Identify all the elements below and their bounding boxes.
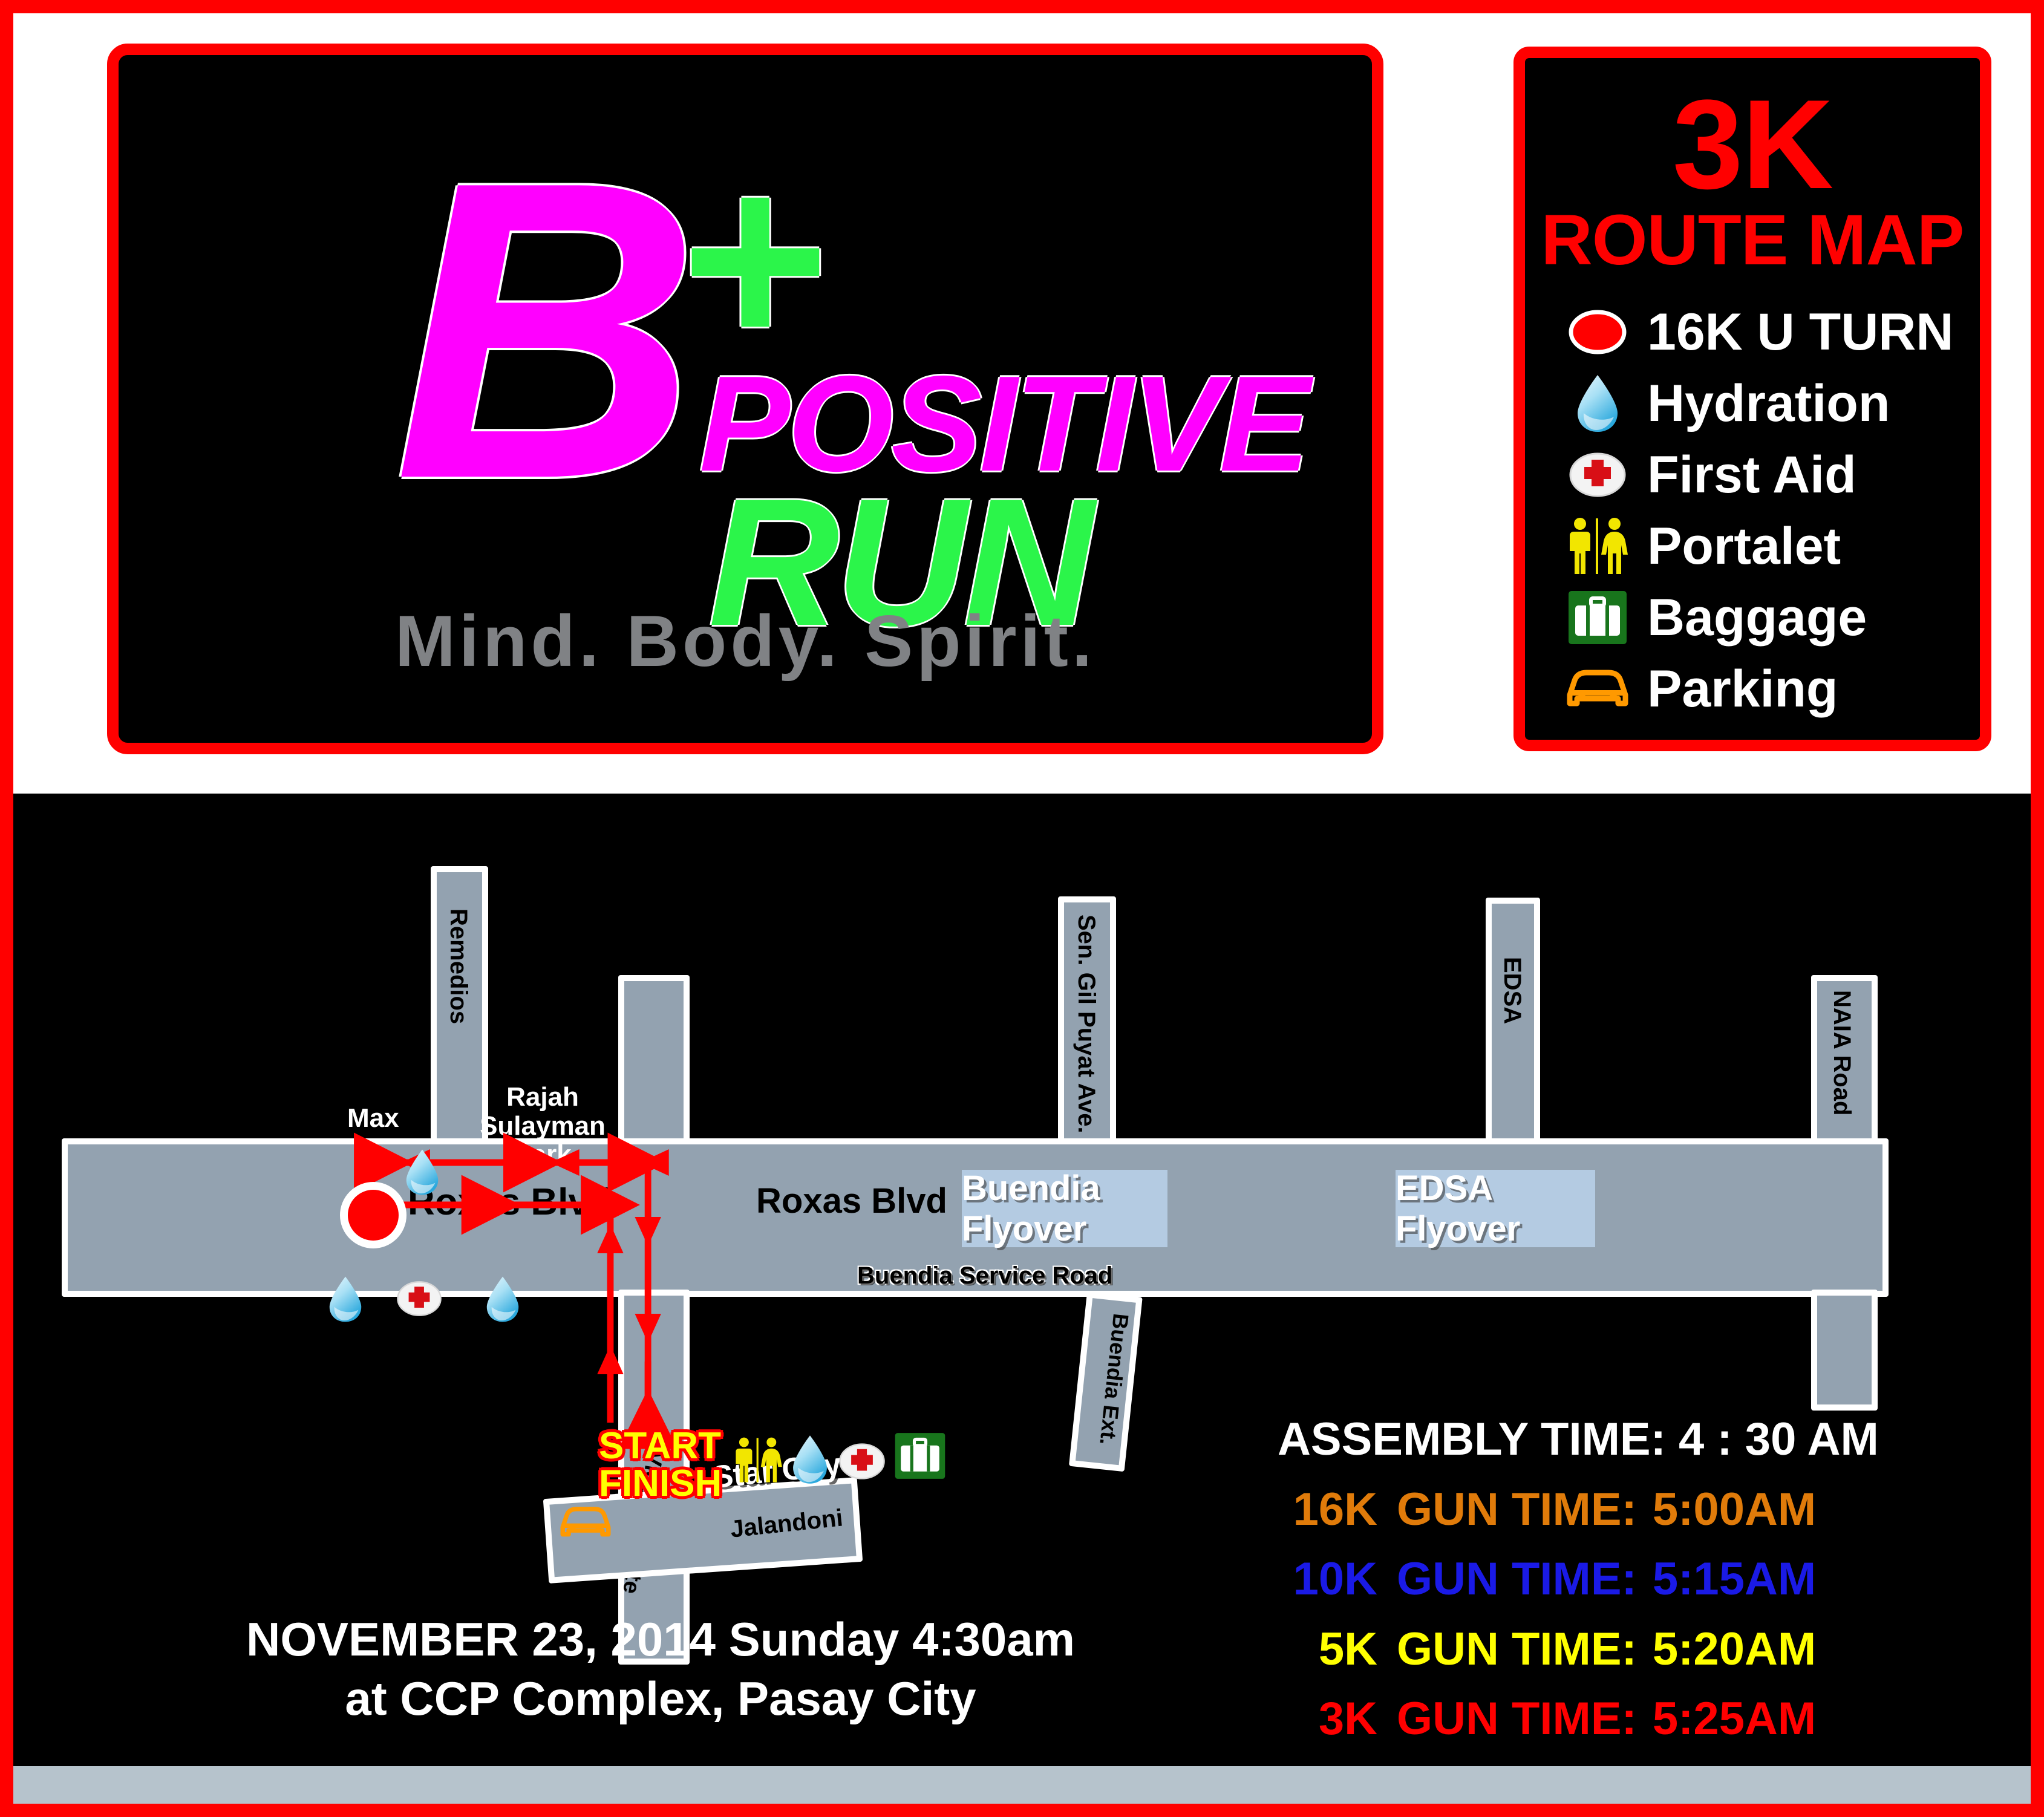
water-drop-icon xyxy=(327,1275,364,1326)
red-cross-icon xyxy=(1561,452,1634,498)
gun-time-row-16k: 16K GUN TIME: 5:00AM xyxy=(1278,1475,1879,1545)
flyover-label: EDSA Flyover xyxy=(1396,1168,1595,1249)
place-label-rajah-sulayman-park: Rajah Sulayman Park xyxy=(473,1083,612,1169)
start-finish-label: START FINISH xyxy=(599,1427,722,1502)
legend-item-label: Portalet xyxy=(1647,517,1841,576)
car-icon xyxy=(1561,668,1634,710)
red-circle-icon xyxy=(1561,310,1634,354)
gun-time-label: GUN TIME: xyxy=(1397,1475,1637,1545)
gun-time-value: 5:20AM xyxy=(1653,1614,1816,1685)
gun-time-row-10k: 10K GUN TIME: 5:15AM xyxy=(1278,1544,1879,1614)
baggage-icon xyxy=(894,1432,946,1483)
bottom-accent-strip xyxy=(13,1766,2031,1804)
legend-list: 16K U TURN Hydration xyxy=(1525,296,1980,725)
start-label: START xyxy=(599,1427,722,1465)
water-drop-icon xyxy=(484,1275,521,1326)
event-venue-line: at CCP Complex, Pasay City xyxy=(237,1669,1084,1729)
legend-panel: 3K ROUTE MAP 16K U TURN xyxy=(1513,47,1991,751)
gun-time-label: GUN TIME: xyxy=(1397,1544,1637,1614)
legend-item-label: Baggage xyxy=(1647,588,1867,648)
legend-item-parking: Parking xyxy=(1561,653,1980,725)
logo-panel: B + POSITIVE RUN Mind. Body. Spirit. xyxy=(107,44,1383,754)
road-naia-south-stub xyxy=(1811,1290,1878,1411)
place-label-line: Rajah xyxy=(473,1083,612,1112)
event-date-line: NOVEMBER 23, 2014 Sunday 4:30am xyxy=(237,1610,1084,1669)
red-cross-icon xyxy=(396,1277,442,1323)
flyover-edsa: EDSA Flyover xyxy=(1396,1170,1595,1247)
gun-time-label: GUN TIME: xyxy=(1397,1614,1637,1685)
red-cross-icon xyxy=(838,1440,886,1486)
legend-item-label: 16K U TURN xyxy=(1647,302,1954,362)
gun-time-distance: 16K xyxy=(1278,1475,1397,1545)
car-icon xyxy=(558,1504,613,1544)
legend-item-portalet: Portalet xyxy=(1561,511,1980,582)
gun-time-label: GUN TIME: xyxy=(1397,1684,1637,1754)
brand-logo: B + POSITIVE RUN Mind. Body. Spirit. xyxy=(119,55,1372,743)
baggage-icon xyxy=(1561,590,1634,645)
water-drop-icon xyxy=(1561,373,1634,434)
route-map-poster: B + POSITIVE RUN Mind. Body. Spirit. 3K … xyxy=(0,0,2044,1817)
road-buendia-ext xyxy=(1069,1291,1143,1472)
gun-time-row-5k: 5K GUN TIME: 5:20AM xyxy=(1278,1614,1879,1685)
legend-item-baggage: Baggage xyxy=(1561,582,1980,653)
water-drop-icon xyxy=(403,1148,441,1199)
water-drop-icon xyxy=(790,1434,830,1489)
legend-item-hydration: Hydration xyxy=(1561,368,1980,439)
header-band: B + POSITIVE RUN Mind. Body. Spirit. 3K … xyxy=(13,13,2031,794)
road-sen-gil-puyat xyxy=(1058,896,1116,1144)
legend-distance-title: 3K xyxy=(1525,81,1980,208)
place-label-line: Sulayman xyxy=(473,1112,612,1141)
legend-subtitle: ROUTE MAP xyxy=(1525,204,1980,276)
finish-label: FINISH xyxy=(599,1465,722,1502)
legend-item-label: First Aid xyxy=(1647,445,1856,505)
road-naia xyxy=(1811,975,1878,1144)
logo-letter-b: B xyxy=(394,161,689,500)
legend-item-label: Parking xyxy=(1647,659,1838,719)
event-info: NOVEMBER 23, 2014 Sunday 4:30am at CCP C… xyxy=(237,1610,1084,1728)
logo-plus-icon: + xyxy=(681,158,829,361)
legend-item-label: Hydration xyxy=(1647,374,1890,434)
uturn-marker-icon xyxy=(340,1182,407,1248)
place-label-line: Park xyxy=(473,1140,612,1169)
assembly-time-row: ASSEMBLY TIME: 4 : 30 AM xyxy=(1278,1404,1879,1475)
legend-item-uturn: 16K U TURN xyxy=(1561,296,1980,368)
restroom-icon xyxy=(732,1436,784,1487)
gun-time-value: 5:15AM xyxy=(1653,1544,1816,1614)
place-label-max: Max xyxy=(347,1103,399,1134)
gun-time-distance: 3K xyxy=(1278,1684,1397,1754)
legend-item-first-aid: First Aid xyxy=(1561,439,1980,511)
road-edsa xyxy=(1486,898,1540,1144)
logo-tagline: Mind. Body. Spirit. xyxy=(119,599,1372,683)
gun-time-row-3k: 3K GUN TIME: 5:25AM xyxy=(1278,1684,1879,1754)
gun-time-distance: 10K xyxy=(1278,1544,1397,1614)
flyover-buendia: Buendia Flyover xyxy=(962,1170,1167,1247)
gun-time-value: 5:00AM xyxy=(1653,1475,1816,1545)
gun-time-distance: 5K xyxy=(1278,1614,1397,1685)
flyover-label: Buendia Flyover xyxy=(962,1168,1167,1249)
schedule-block: ASSEMBLY TIME: 4 : 30 AM 16K GUN TIME: 5… xyxy=(1278,1404,1879,1754)
restroom-icon xyxy=(1561,516,1634,576)
gun-time-value: 5:25AM xyxy=(1653,1684,1816,1754)
